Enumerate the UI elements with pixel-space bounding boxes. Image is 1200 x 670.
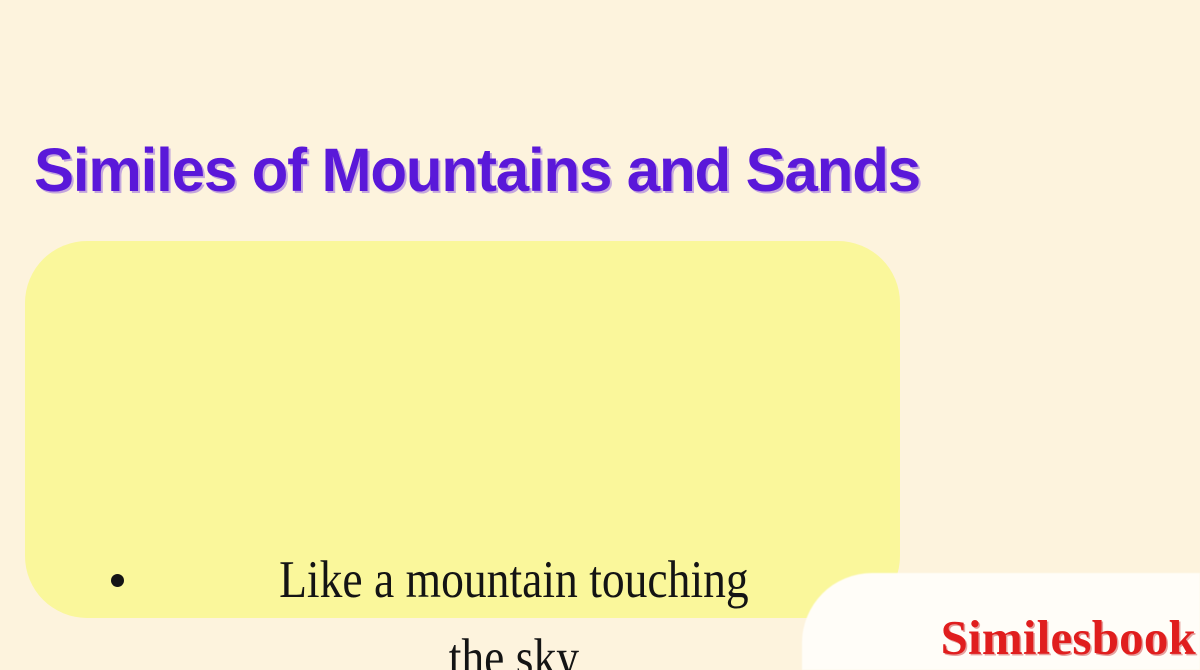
page-title: Similes of Mountains and Sands (34, 137, 1019, 203)
bullet-dot-icon (111, 574, 124, 587)
content-card: Like a mountain touching the sky As stro… (25, 241, 900, 618)
brand-wordmark: Similesbook (941, 608, 1196, 668)
list-item-label: Like a mountain touching the sky (157, 541, 871, 670)
slide-canvas: Similes of Mountains and Sands Like a mo… (0, 0, 1200, 670)
